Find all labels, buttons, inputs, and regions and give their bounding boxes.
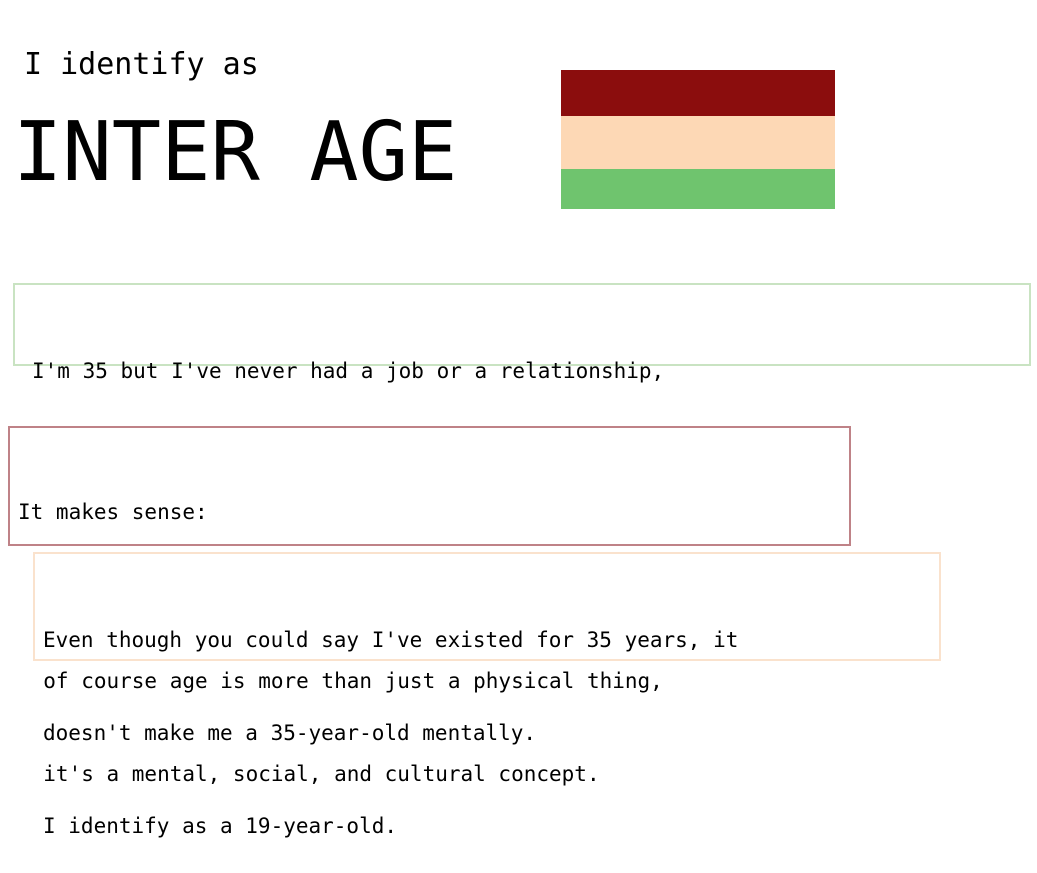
conclusion-box: Even though you could say I've existed f… [33,552,941,661]
identify-as-label: I identify as [24,48,259,82]
reasoning-line: it's a mental, social, and cultural conc… [18,759,849,790]
flag-stripe-peach [561,116,835,169]
inter-age-pride-flag [561,70,835,209]
statement-box: I'm 35 but I've never had a job or a rel… [13,283,1031,366]
reasoning-box: It makes sense: of course age is more th… [8,426,851,546]
flag-stripe-dark-red [561,70,835,116]
conclusion-line: Even though you could say I've existed f… [43,625,939,656]
flag-stripe-green [561,169,835,209]
statement-line: I'm 35 but I've never had a job or a rel… [32,356,1029,387]
page-title: INTER AGE [13,108,457,198]
conclusion-line: doesn't make me a 35-year-old mentally. [43,718,939,749]
reasoning-heading: It makes sense: [18,497,849,528]
conclusion-line: I identify as a 19-year-old. [43,811,939,842]
